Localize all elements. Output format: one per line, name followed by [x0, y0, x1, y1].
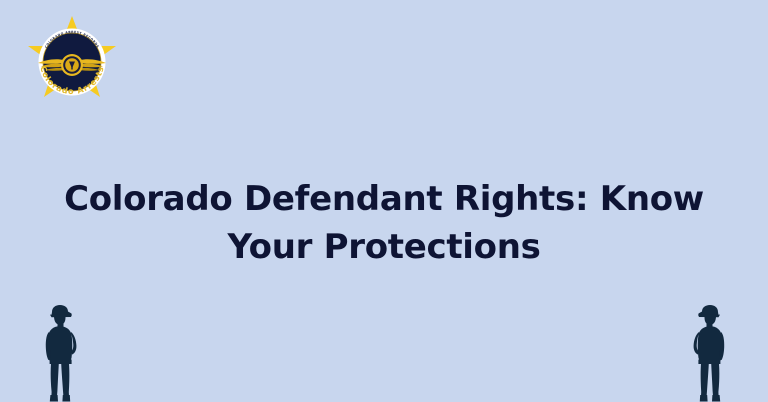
page-title: Colorado Defendant Rights: Know Your Pro…	[0, 175, 768, 271]
page-title-line-2: Your Protections	[40, 223, 728, 271]
colorado-arrests-logo[interactable]: COLORADO ARREST RECORDS Colorado Arrests	[23, 13, 121, 111]
page-title-line-1: Colorado Defendant Rights: Know	[40, 175, 728, 223]
article-hero-banner: COLORADO ARREST RECORDS Colorado Arrests…	[0, 0, 768, 402]
police-officer-silhouette-right	[678, 302, 740, 402]
police-officer-silhouette-left	[30, 302, 92, 402]
